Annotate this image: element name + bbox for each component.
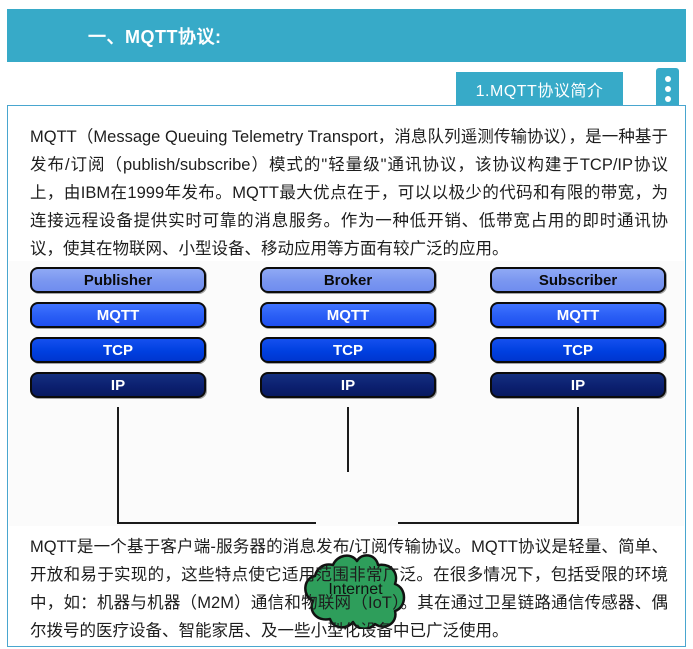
page-title: 一、MQTT协议: (88, 23, 221, 49)
content-panel: MQTT（Message Queuing Telemetry Transport… (7, 105, 686, 647)
node-publisher-ip: IP (30, 372, 206, 398)
node-subscriber-mqtt: MQTT (490, 302, 666, 328)
node-subscriber: Subscriber (490, 267, 666, 293)
dot-3 (665, 96, 671, 102)
node-broker: Broker (260, 267, 436, 293)
connector-publisher-vertical (117, 407, 119, 524)
vertical-dots-icon[interactable] (656, 68, 679, 110)
intro-paragraph: MQTT（Message Queuing Telemetry Transport… (30, 123, 668, 263)
connector-subscriber-vertical (577, 407, 579, 524)
connector-broker-vertical (347, 407, 349, 472)
dot-1 (665, 76, 671, 82)
node-publisher-mqtt: MQTT (30, 302, 206, 328)
dot-2 (665, 86, 671, 92)
connector-publisher-horizontal (117, 522, 316, 524)
node-broker-tcp: TCP (260, 337, 436, 363)
node-broker-ip: IP (260, 372, 436, 398)
section-badge-label: 1.MQTT协议简介 (476, 77, 604, 101)
page-header-bar: 一、MQTT协议: (7, 9, 686, 62)
summary-paragraph: MQTT是一个基于客户端-服务器的消息发布/订阅传输协议。MQTT协议是轻量、简… (30, 533, 668, 645)
mqtt-architecture-diagram: Publisher MQTT TCP IP Broker MQTT TCP IP… (9, 261, 684, 526)
node-subscriber-tcp: TCP (490, 337, 666, 363)
node-broker-mqtt: MQTT (260, 302, 436, 328)
node-publisher-tcp: TCP (30, 337, 206, 363)
connector-subscriber-horizontal (398, 522, 579, 524)
section-badge: 1.MQTT协议简介 (456, 72, 623, 105)
node-subscriber-ip: IP (490, 372, 666, 398)
stack-broker: Broker MQTT TCP IP (260, 267, 436, 407)
stack-publisher: Publisher MQTT TCP IP (30, 267, 206, 407)
node-publisher: Publisher (30, 267, 206, 293)
stack-subscriber: Subscriber MQTT TCP IP (490, 267, 666, 407)
